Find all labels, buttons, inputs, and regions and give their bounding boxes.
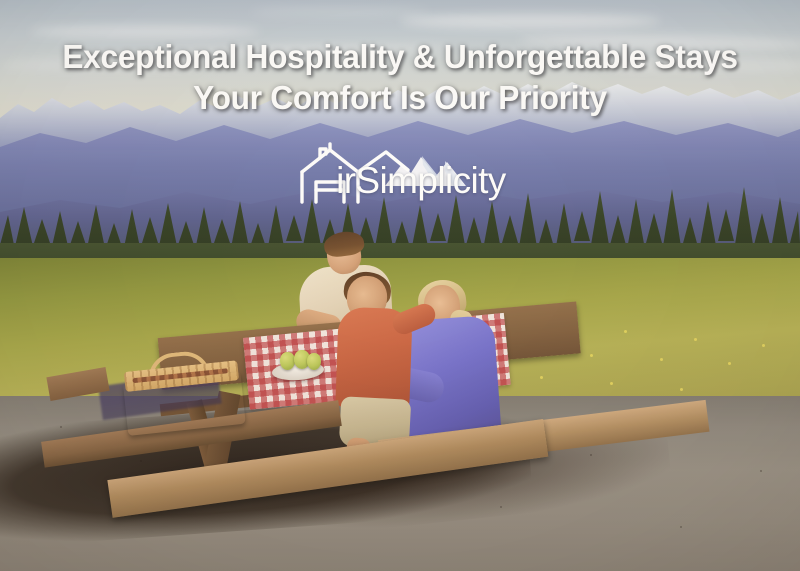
headline-line-2: Your Comfort Is Our Priority [16,81,784,116]
picnic-basket [120,346,246,436]
cloud [250,8,430,16]
cloud [400,14,660,28]
pear [280,352,295,370]
headline-block: Exceptional Hospitality & Unforgettable … [0,40,800,116]
hero-banner: Exceptional Hospitality & Unforgettable … [0,0,800,571]
pear [307,353,321,370]
cloud [30,26,260,37]
headline-line-1: Exceptional Hospitality & Unforgettable … [16,40,784,75]
logo-wordmark-rest: irSimplicity [336,160,506,201]
logo-wordmark: AirSimplicity [312,160,506,202]
brand-logo[interactable]: AirSimplicity [0,138,800,208]
